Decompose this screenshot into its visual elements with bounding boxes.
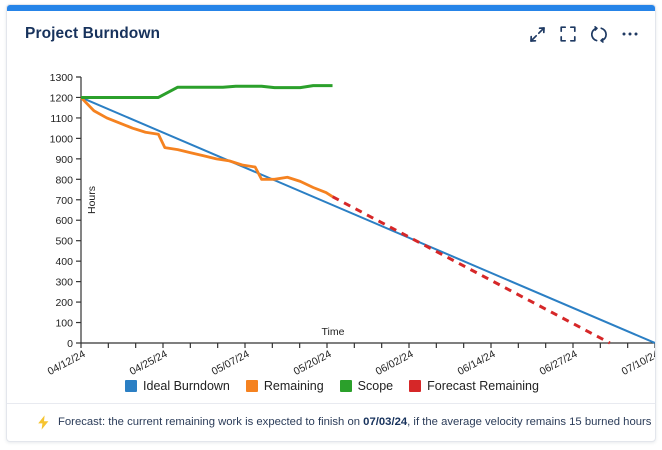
collapse-icon[interactable] — [528, 25, 546, 43]
legend-swatch — [125, 380, 137, 392]
header-actions — [528, 25, 639, 43]
y-tick-label: 800 — [55, 174, 73, 186]
legend-label: Forecast Remaining — [427, 379, 539, 393]
series-line-ideal-burndown — [81, 97, 655, 343]
y-tick-label: 1200 — [50, 92, 74, 104]
y-tick-label: 200 — [55, 297, 73, 309]
y-tick-label: 1300 — [50, 72, 74, 84]
refresh-icon[interactable] — [590, 25, 608, 43]
legend-item[interactable]: Remaining — [246, 379, 324, 393]
y-tick-label: 1000 — [50, 133, 74, 145]
y-tick-label: 1100 — [50, 113, 73, 125]
more-options-icon[interactable] — [621, 25, 639, 43]
card-header: Project Burndown — [7, 11, 655, 57]
chart-legend: Ideal BurndownRemainingScopeForecast Rem… — [7, 379, 656, 393]
legend-label: Scope — [358, 379, 393, 393]
y-tick-label: 0 — [67, 338, 73, 350]
legend-item[interactable]: Scope — [340, 379, 393, 393]
x-tick-label: 05/20/24 — [292, 348, 334, 378]
legend-swatch — [340, 380, 352, 392]
x-axis-label: Time — [322, 326, 345, 338]
screenshot-root: Project Burndown — [0, 0, 662, 450]
fullscreen-icon[interactable] — [559, 25, 577, 43]
legend-swatch — [409, 380, 421, 392]
series-line-forecast-remaining — [333, 197, 610, 343]
burndown-card: Project Burndown — [6, 4, 656, 442]
y-tick-label: 300 — [55, 277, 73, 289]
x-tick-label: 06/27/24 — [538, 348, 580, 378]
legend-item[interactable]: Ideal Burndown — [125, 379, 230, 393]
y-tick-label: 900 — [55, 154, 73, 166]
legend-label: Ideal Burndown — [143, 379, 230, 393]
forecast-suffix: , if the average velocity remains 15 bur… — [407, 416, 656, 428]
burndown-chart: 0100200300400500600700800900100011001200… — [7, 57, 656, 387]
page-title: Project Burndown — [25, 25, 160, 43]
x-tick-label: 04/12/24 — [46, 348, 88, 378]
y-tick-label: 400 — [55, 256, 73, 268]
x-tick-label: 06/14/24 — [456, 348, 498, 378]
x-tick-label: 04/25/24 — [128, 348, 170, 378]
series-line-remaining — [81, 97, 333, 196]
forecast-text: Forecast: the current remaining work is … — [58, 415, 656, 430]
y-tick-label: 600 — [55, 215, 73, 227]
x-tick-label: 05/07/24 — [210, 348, 252, 378]
y-tick-label: 500 — [55, 236, 73, 248]
series-line-scope — [81, 86, 333, 98]
y-tick-label: 700 — [55, 195, 73, 207]
legend-label: Remaining — [264, 379, 324, 393]
y-axis-label: Hours — [86, 186, 98, 214]
forecast-date: 07/03/24 — [363, 416, 407, 428]
x-tick-label: 07/10/24 — [620, 348, 656, 378]
forecast-footer: Forecast: the current remaining work is … — [7, 403, 656, 441]
x-tick-label: 06/02/24 — [374, 348, 416, 378]
legend-item[interactable]: Forecast Remaining — [409, 379, 539, 393]
forecast-prefix: Forecast: the current remaining work is … — [58, 416, 363, 428]
burndown-chart-svg: 0100200300400500600700800900100011001200… — [7, 57, 656, 387]
bolt-icon — [37, 415, 50, 430]
legend-swatch — [246, 380, 258, 392]
y-tick-label: 100 — [55, 318, 73, 330]
